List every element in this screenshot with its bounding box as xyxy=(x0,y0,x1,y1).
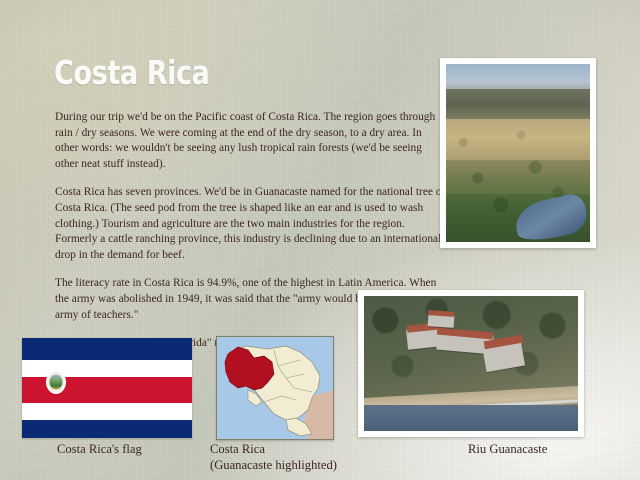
flag-band-blue-bottom xyxy=(22,420,192,438)
landscape-tree-clusters xyxy=(446,64,590,242)
caption-map: Costa Rica (Guanacaste highlighted) xyxy=(210,441,360,473)
coat-of-arms-icon xyxy=(48,372,65,393)
photo-aerial-landscape xyxy=(440,58,596,248)
resort-ocean xyxy=(364,405,578,431)
photo-aerial-resort-image xyxy=(364,296,578,431)
caption-resort: Riu Guanacaste xyxy=(468,441,547,457)
figure-costa-rica-map xyxy=(216,336,334,440)
flag-image xyxy=(22,338,192,438)
flag-band-white-upper xyxy=(22,360,192,377)
figure-costa-rica-flag xyxy=(22,338,192,438)
map-image xyxy=(216,336,334,440)
caption-map-line1: Costa Rica xyxy=(210,441,360,457)
photo-aerial-landscape-image xyxy=(446,64,590,242)
flag-band-white-lower xyxy=(22,403,192,420)
photo-aerial-resort xyxy=(358,290,584,437)
flag-band-blue-top xyxy=(22,338,192,360)
caption-flag: Costa Rica's flag xyxy=(57,441,142,457)
paragraph-provinces: Costa Rica has seven provinces. We'd be … xyxy=(55,185,447,263)
page-title: Costa Rica xyxy=(54,55,209,91)
slide-canvas: Costa Rica During our trip we'd be on th… xyxy=(0,0,640,480)
caption-map-line2: (Guanacaste highlighted) xyxy=(210,457,360,473)
paragraph-intro: During our trip we'd be on the Pacific c… xyxy=(55,110,447,172)
